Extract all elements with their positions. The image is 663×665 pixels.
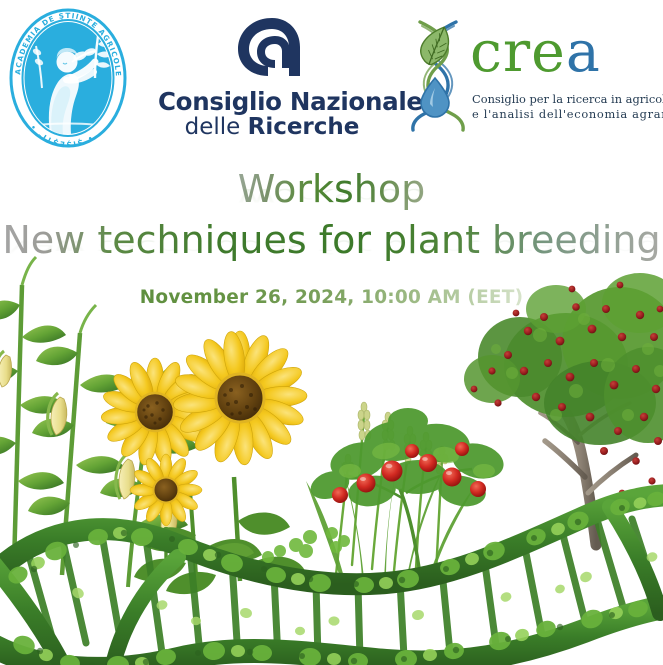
cnr-line-2-light: delle [185,114,248,140]
crea-word-green: cre [470,19,566,85]
title-block: Workshop Workshop New techniques for pla… [0,164,663,310]
crea-logo: crea Consiglio per la ricerca in agricol… [404,16,658,142]
tomato-plant [307,408,508,575]
cnr-line-1: Consiglio Nazionale [158,88,386,115]
cnr-line-2-bold: Ricerche [248,114,360,140]
cnr-line-2: delle Ricerche [158,115,386,141]
crea-subtitle-line-1: Consiglio per la ricerca in agricoltura [472,92,663,107]
subtitle-heading: New techniques for plant breeding [2,214,660,266]
crea-dna-leaf-drop-icon [404,18,476,134]
berry-tree [464,273,663,545]
dna-helix [0,490,663,665]
subtitle-heading-wrap: New techniques for plant breeding New te… [0,214,663,266]
event-datetime: November 26, 2024, 10:00 AM (EET) [140,286,524,310]
wheat-ears [306,402,476,581]
crea-subtitle-line-2: e l'analisi dell'economia agraria [472,107,663,122]
cnr-mark-icon [230,14,314,80]
date-wrap: November 26, 2024, 10:00 AM (EET) [0,286,663,310]
workshop-poster: ACADEMIA DE ŞTIINŢE AGRICOLE ŞI SILVICE … [0,0,663,665]
cnr-logo: Consiglio Nazionale delle Ricerche [158,14,386,142]
crea-word-blue: a [566,19,601,85]
crea-subtitle: Consiglio per la ricerca in agricoltura … [472,92,663,122]
sunflowers [100,330,307,594]
workshop-heading-wrap: Workshop Workshop [0,164,663,214]
ground-clover [262,527,350,563]
workshop-heading: Workshop [238,164,425,214]
logo-bar: ACADEMIA DE ŞTIINŢE AGRICOLE ŞI SILVICE … [0,0,663,160]
crea-wordmark: crea [470,24,601,81]
asas-seal: ACADEMIA DE ŞTIINŢE AGRICOLE ŞI SILVICE … [6,6,130,148]
